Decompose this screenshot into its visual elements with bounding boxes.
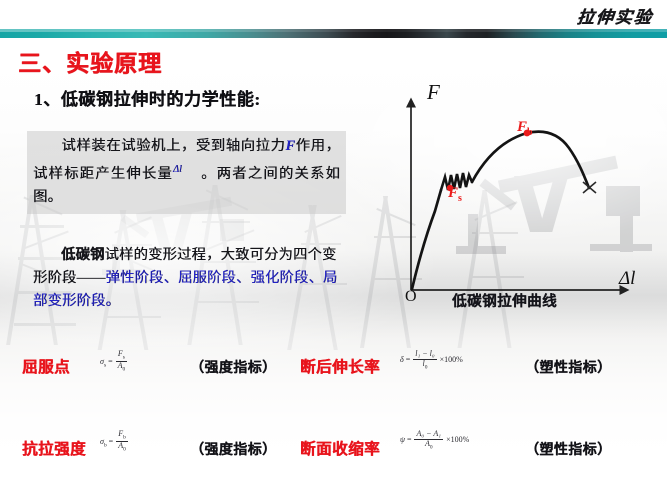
formula-term-elongation: 断后伸长率 [300, 355, 380, 377]
formula-term-tensile-strength: 抗拉强度 [22, 437, 86, 459]
origin-label: O [405, 288, 417, 306]
header-title: 拉伸实验 [576, 3, 655, 28]
slide-canvas: 拉伸实验 三、实验原理 1、低碳钢拉伸时的力学性能: 试样装在试验机上，受到轴向… [0, 0, 667, 500]
formula-index-plastic-2: （塑性指标） [525, 439, 611, 459]
curve-elastic-stage [412, 190, 441, 289]
y-axis-label: F [427, 80, 440, 105]
curve-hardening-stage [472, 133, 527, 182]
annotation-label-Fb: Fb [517, 119, 533, 138]
section-subtitle: 1、低碳钢拉伸时的力学性能: [34, 85, 261, 110]
formula-index-strength-2: （强度指标） [190, 439, 276, 459]
formula-eq-elongation: δ = l₁ − l₀ l0 ×100% [400, 350, 463, 371]
formula-index-strength-1: （强度指标） [190, 357, 276, 377]
symbol-delta-l: Δl [173, 164, 182, 175]
paragraph-box-1: 试样装在试验机上，受到轴向拉力F作用，试样标距产生伸长量Δl。两者之间的关系如图… [27, 131, 346, 214]
p2-lead-lowcarbon-steel: 低碳钢 [61, 247, 105, 263]
annotation-label-Fs: Fs [448, 185, 462, 204]
formula-index-plastic-1: （塑性指标） [525, 357, 611, 377]
curve-necking-stage [527, 132, 589, 188]
symbol-force-F: F [285, 138, 295, 154]
fracture-marker-icon [583, 182, 596, 193]
section-title: 三、实验原理 [18, 44, 162, 78]
formula-term-area-reduction: 断面收缩率 [300, 437, 380, 459]
formula-term-yield-point: 屈服点 [22, 355, 70, 377]
p1-text-a: 试样装在试验机上，受到轴向拉力 [61, 138, 285, 154]
header-divider-gloss [0, 29, 667, 32]
formula-eq-yield-stress: σs = Fs A0 [100, 350, 128, 372]
x-axis-label: Δl [619, 268, 635, 290]
background-bottom-fade [0, 300, 667, 500]
formula-eq-area-reduction: ψ = A₀ − A₁ A0 ×100% [400, 430, 469, 451]
formula-eq-tensile-strength: σb = Fb A0 [100, 430, 129, 452]
paragraph-2: 低碳钢试样的变形过程，大致可分为四个变形阶段——弹性阶段、屈服阶段、强化阶段、局… [33, 244, 349, 313]
chart-caption: 低碳钢拉伸曲线 [452, 290, 557, 311]
paragraph-1: 试样装在试验机上，受到轴向拉力F作用，试样标距产生伸长量Δl。两者之间的关系如图… [33, 135, 340, 209]
